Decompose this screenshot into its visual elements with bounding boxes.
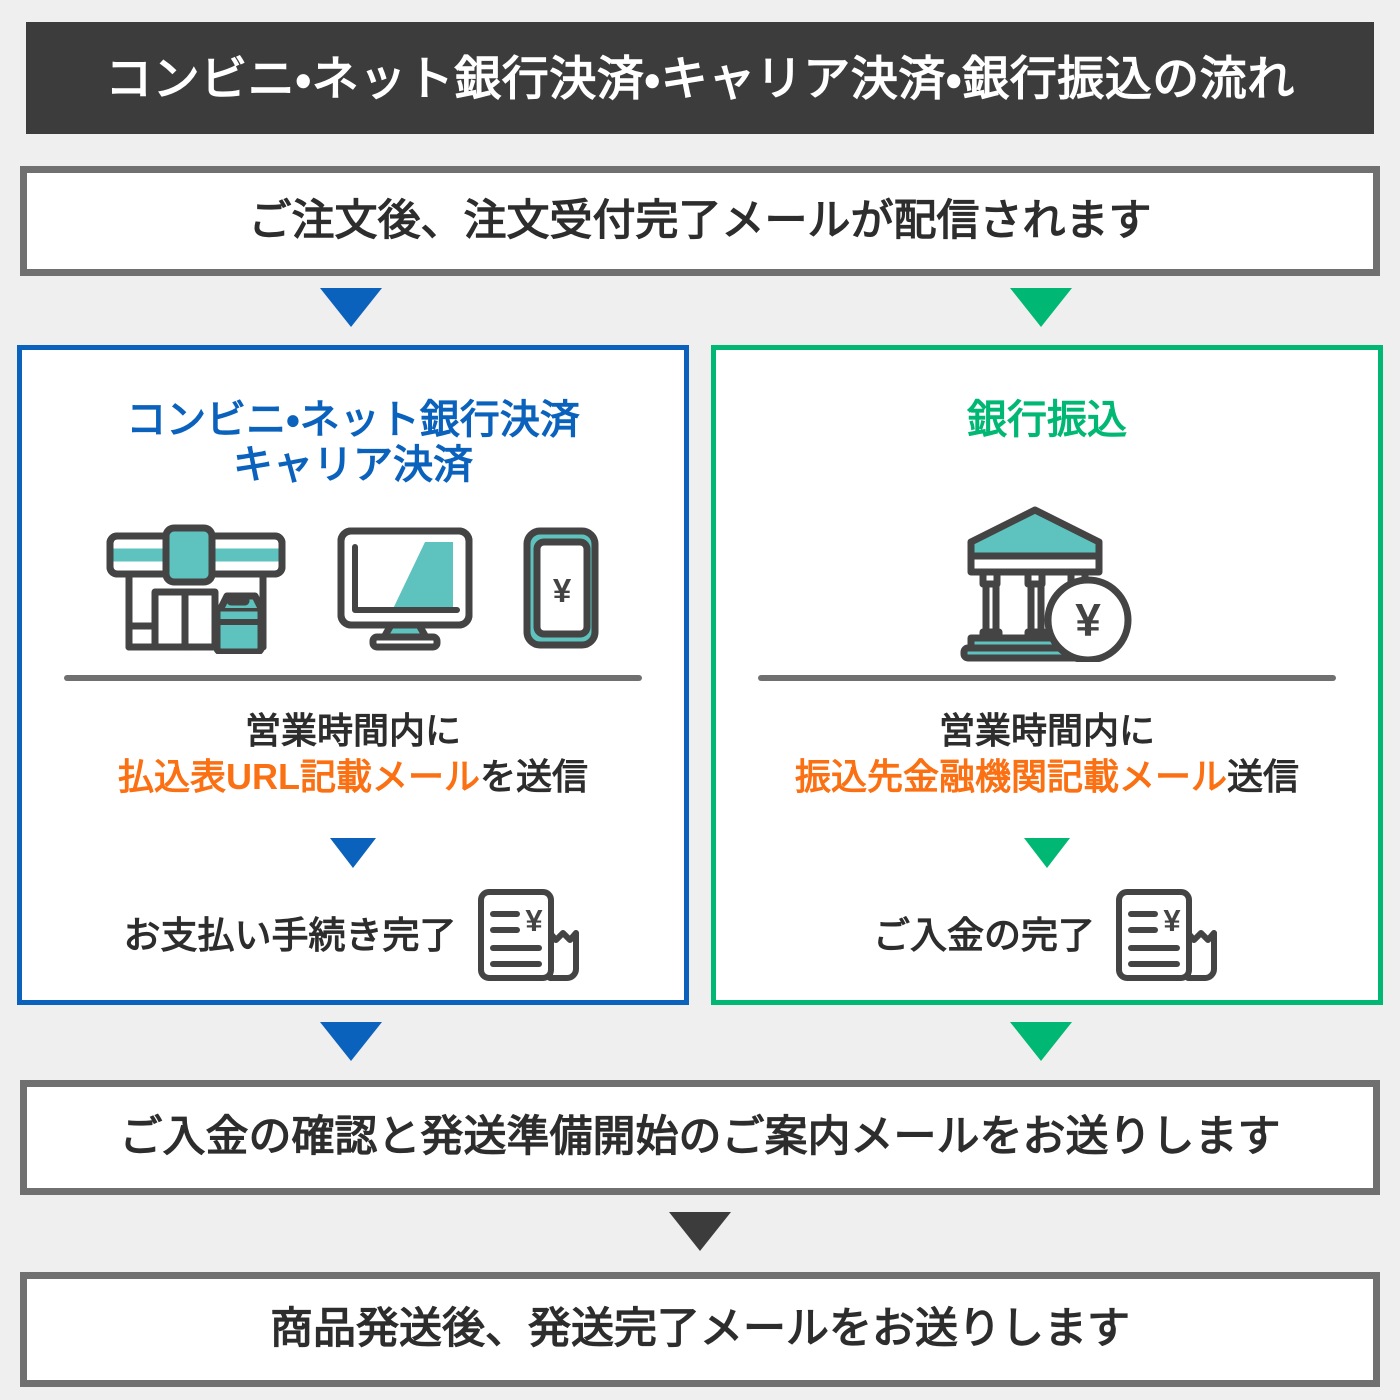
step-payment-confirmed: ご入金の確認と発送準備開始のご案内メールをお送りします	[20, 1080, 1380, 1195]
panel-furikomi-title: 銀行振込	[716, 398, 1378, 443]
page-title: コンビニ・ネット銀行決済・キャリア決済・銀行振込の流れ	[105, 55, 1294, 102]
payment-flow-diagram: コンビニ・ネット銀行決済・キャリア決済・銀行振込の流れ ご注文後、注文受付完了メ…	[0, 0, 1400, 1400]
invoice-yen-icon: ¥	[471, 886, 583, 984]
panel-konbini-divider	[64, 675, 642, 681]
page-title-bar: コンビニ・ネット銀行決済・キャリア決済・銀行振込の流れ	[26, 22, 1374, 134]
panel-konbini-note-line1: 営業時間内に	[22, 708, 684, 754]
convenience-store-icon	[103, 522, 289, 654]
panel-furikomi-result-label: ご入金の完了	[873, 917, 1095, 954]
panel-konbini-note-line2: 払込表URL記載メールを送信	[22, 754, 684, 800]
step-shipped: 商品発送後、発送完了メールをお送りします	[20, 1272, 1380, 1387]
panel-konbini: コンビニ・ネット銀行決済 キャリア決済	[17, 345, 689, 1005]
yen-symbol-invoice-right: ¥	[1163, 903, 1181, 938]
invoice-yen-icon: ¥	[1109, 886, 1221, 984]
yen-symbol-phone: ¥	[553, 572, 572, 609]
panel-furikomi-divider	[758, 675, 1336, 681]
smartphone-yen-icon: ¥	[521, 525, 603, 651]
panel-konbini-result-row: お支払い手続き完了 ¥	[22, 880, 684, 990]
yen-symbol-coin: ¥	[1075, 594, 1101, 646]
panel-furikomi-icon-row: ¥	[716, 500, 1378, 665]
arrow-down-to-furikomi-icon	[1010, 288, 1072, 327]
step-shipped-label: 商品発送後、発送完了メールをお送りします	[270, 1308, 1130, 1351]
panel-furikomi-note-highlight: 振込先金融機関記載メール	[795, 756, 1227, 797]
arrow-down-konbini-result-icon	[330, 838, 376, 868]
arrow-down-konbini-to-confirm-icon	[320, 1022, 382, 1061]
panel-konbini-title-line2: キャリア決済	[22, 443, 684, 488]
step-order-received: ご注文後、注文受付完了メールが配信されます	[20, 166, 1380, 276]
panel-furikomi-title-line1: 銀行振込	[716, 398, 1378, 443]
panel-furikomi-note-line1: 営業時間内に	[716, 708, 1378, 754]
panel-konbini-icon-row: ¥	[22, 520, 684, 655]
panel-konbini-note-highlight: 払込表URL記載メール	[118, 756, 480, 797]
bank-building-yen-icon: ¥	[957, 504, 1137, 662]
arrow-down-furikomi-to-confirm-icon	[1010, 1022, 1072, 1061]
panel-konbini-title: コンビニ・ネット銀行決済 キャリア決済	[22, 398, 684, 488]
desktop-monitor-icon	[335, 525, 475, 651]
panel-konbini-note-suffix: を送信	[480, 756, 588, 797]
panel-furikomi: 銀行振込	[711, 345, 1383, 1005]
panel-konbini-result-label: お支払い手続き完了	[124, 917, 457, 954]
panel-konbini-title-line1: コンビニ・ネット銀行決済	[22, 398, 684, 443]
arrow-down-furikomi-result-icon	[1024, 838, 1070, 868]
yen-symbol-invoice-left: ¥	[525, 903, 543, 938]
panel-konbini-note: 営業時間内に 払込表URL記載メールを送信	[22, 708, 684, 800]
arrow-down-to-shipped-icon	[669, 1212, 731, 1251]
step-order-received-label: ご注文後、注文受付完了メールが配信されます	[249, 200, 1152, 243]
panel-furikomi-note-line2: 振込先金融機関記載メール送信	[716, 754, 1378, 800]
arrow-down-to-konbini-icon	[320, 288, 382, 327]
panel-furikomi-note: 営業時間内に 振込先金融機関記載メール送信	[716, 708, 1378, 800]
step-payment-confirmed-label: ご入金の確認と発送準備開始のご案内メールをお送りします	[120, 1116, 1281, 1159]
panel-furikomi-result-row: ご入金の完了 ¥	[716, 880, 1378, 990]
panel-furikomi-note-suffix: 送信	[1227, 756, 1299, 797]
